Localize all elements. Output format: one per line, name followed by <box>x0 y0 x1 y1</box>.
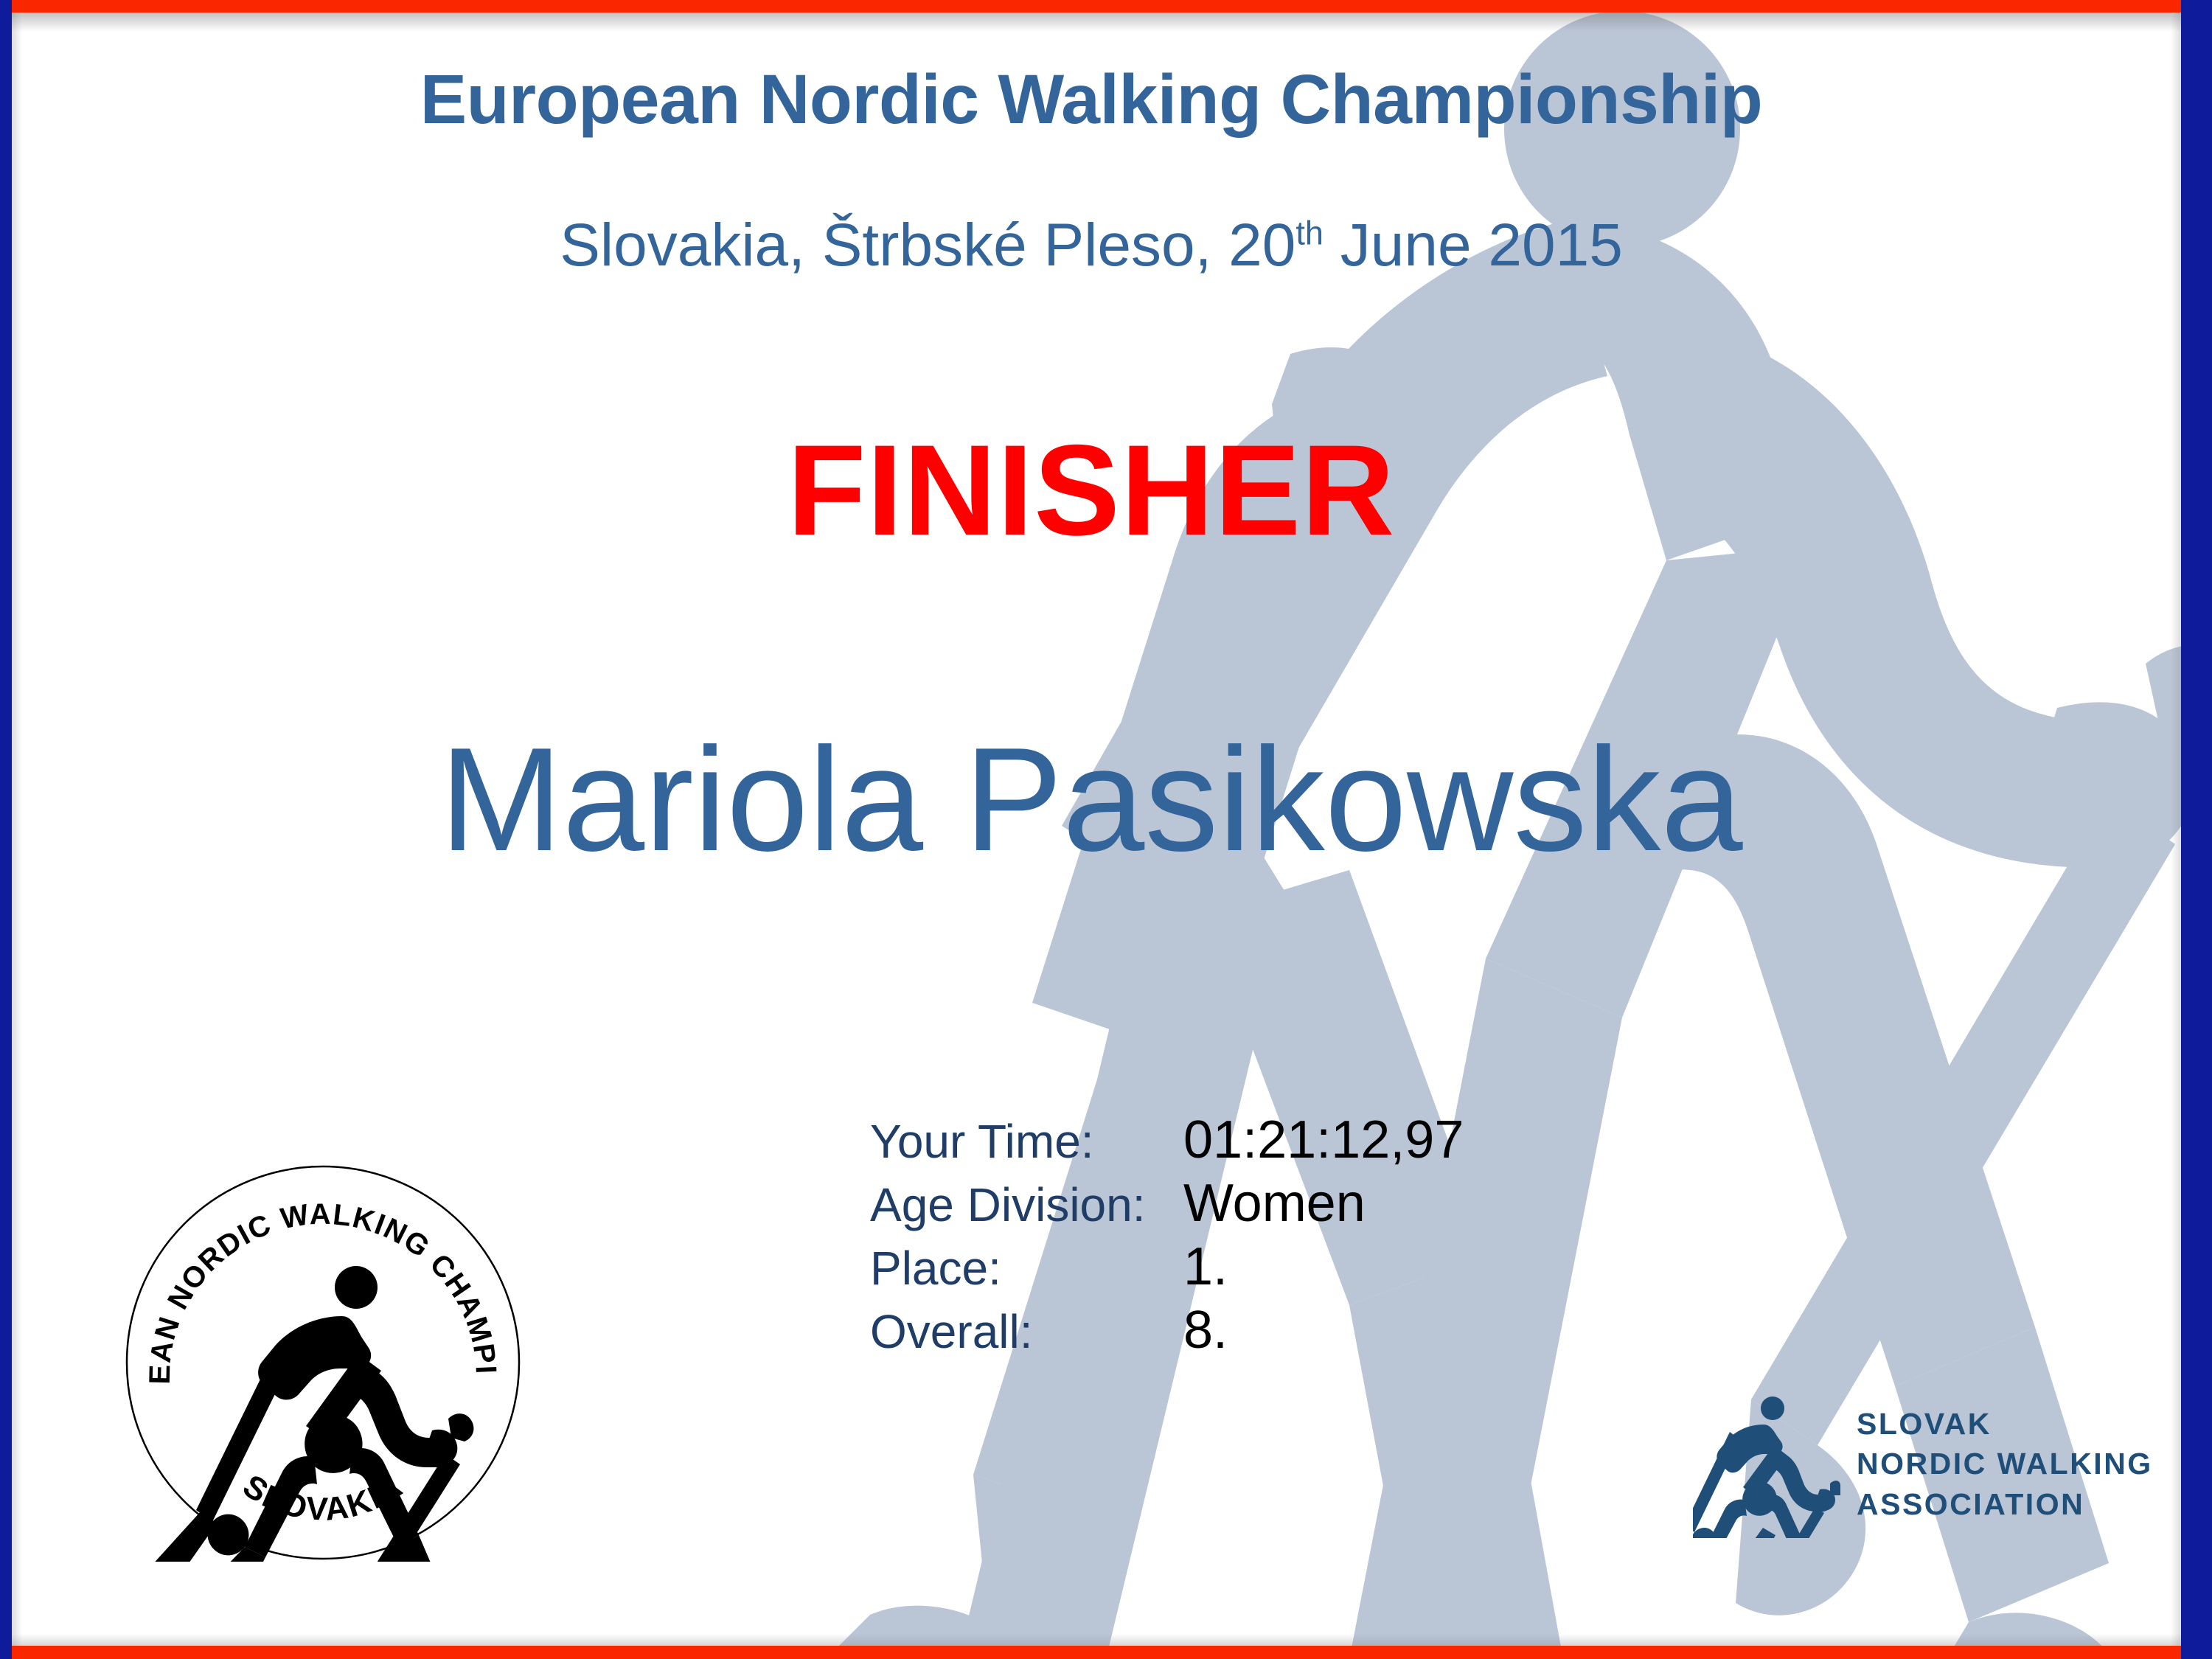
association-name-line3: ASSOCIATION <box>1857 1484 2153 1524</box>
result-value-overall: 8. <box>1183 1300 1228 1360</box>
result-label-your-time: Your Time: <box>870 1114 1183 1169</box>
result-row-your-time: Your Time: 01:21:12,97 <box>870 1110 1464 1173</box>
right-border <box>2181 0 2212 1659</box>
result-label-age-division: Age Division: <box>870 1178 1183 1232</box>
athlete-name: Mariola Pasikowska <box>0 719 2183 881</box>
event-circle-logo: EUROPEAN NORDIC WALKING CHAMPIONSHIP SLO… <box>124 1164 522 1562</box>
right-border-shadow <box>2171 0 2181 1659</box>
event-location-date: Slovakia, Štrbské Pleso, 20th June 2015 <box>0 214 2183 277</box>
top-border-shadow <box>0 13 2212 32</box>
association-name: SLOVAK NORDIC WALKING ASSOCIATION <box>1857 1404 2153 1523</box>
association-name-line2: NORDIC WALKING <box>1857 1444 2153 1484</box>
certificate-page: European Nordic Walking Championship Slo… <box>0 0 2212 1659</box>
event-title: European Nordic Walking Championship <box>0 63 2183 137</box>
result-value-your-time: 01:21:12,97 <box>1183 1110 1464 1170</box>
association-walker-icon <box>1693 1391 1840 1538</box>
result-row-overall: Overall: 8. <box>870 1300 1464 1363</box>
result-label-place: Place: <box>870 1241 1183 1295</box>
result-row-age-division: Age Division: Women <box>870 1173 1464 1237</box>
result-label-overall: Overall: <box>870 1304 1183 1359</box>
left-border <box>0 0 12 1659</box>
slovak-nordic-walking-association-logo: SLOVAK NORDIC WALKING ASSOCIATION <box>1693 1385 2121 1543</box>
results-block: Your Time: 01:21:12,97 Age Division: Wom… <box>870 1110 1464 1363</box>
left-border-shadow <box>12 0 22 1659</box>
bottom-border-shadow <box>0 1634 2212 1646</box>
association-name-line1: SLOVAK <box>1857 1404 2153 1444</box>
location-date-suffix: June 2015 <box>1324 212 1623 279</box>
result-row-place: Place: 1. <box>870 1237 1464 1300</box>
result-value-place: 1. <box>1183 1237 1228 1297</box>
top-border <box>0 0 2212 13</box>
finisher-status: FINISHER <box>0 420 2183 563</box>
bottom-border <box>0 1646 2212 1659</box>
location-date-prefix: Slovakia, Štrbské Pleso, 20 <box>560 212 1295 279</box>
result-value-age-division: Women <box>1183 1173 1366 1234</box>
date-ordinal-suffix: th <box>1295 215 1324 252</box>
